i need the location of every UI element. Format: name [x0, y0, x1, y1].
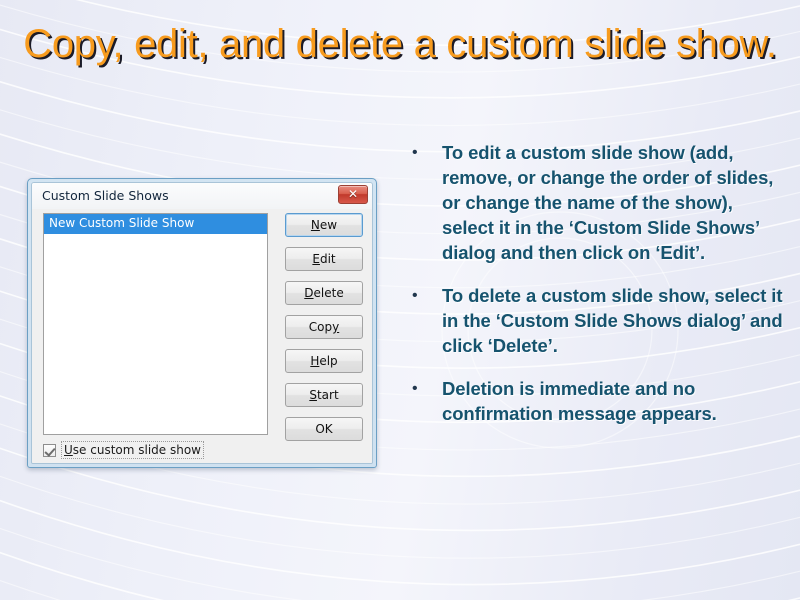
- delete-button[interactable]: Delete: [285, 281, 363, 305]
- custom-slide-shows-dialog: Custom Slide Shows ✕ New Custom Slide Sh…: [27, 178, 377, 468]
- copy-button[interactable]: Copy: [285, 315, 363, 339]
- slide-body: • To edit a custom slide show (add, remo…: [408, 140, 784, 426]
- bullet-item: • To delete a custom slide show, select …: [408, 283, 784, 358]
- bullet-item: • To edit a custom slide show (add, remo…: [408, 140, 784, 265]
- bullet-text: Deletion is immediate and no confirmatio…: [442, 376, 784, 426]
- bullet-dot-icon: •: [408, 283, 442, 309]
- list-item[interactable]: New Custom Slide Show: [44, 214, 267, 234]
- use-custom-slide-show-row[interactable]: Use custom slide show: [43, 441, 204, 459]
- use-custom-slide-show-checkbox[interactable]: [43, 444, 56, 457]
- bullet-text: To delete a custom slide show, select it…: [442, 283, 784, 358]
- bullet-item: • Deletion is immediate and no confirmat…: [408, 376, 784, 426]
- new-button[interactable]: New: [285, 213, 363, 237]
- dialog-button-column: New Edit Delete Copy Help Start OK: [285, 213, 363, 441]
- dialog-body: New Custom Slide Show Use custom slide s…: [32, 209, 372, 463]
- close-glyph: ✕: [339, 186, 367, 203]
- close-icon[interactable]: ✕: [338, 185, 368, 204]
- custom-shows-listbox[interactable]: New Custom Slide Show: [43, 213, 268, 435]
- slide-canvas: Copy, edit, and delete a custom slide sh…: [0, 0, 800, 600]
- start-button[interactable]: Start: [285, 383, 363, 407]
- dialog-titlebar: Custom Slide Shows ✕: [32, 183, 372, 209]
- dialog-inner-frame: Custom Slide Shows ✕ New Custom Slide Sh…: [31, 182, 373, 464]
- use-custom-slide-show-label[interactable]: Use custom slide show: [61, 441, 204, 459]
- edit-button[interactable]: Edit: [285, 247, 363, 271]
- bullet-text: To edit a custom slide show (add, remove…: [442, 140, 784, 265]
- dialog-title-text: Custom Slide Shows: [42, 188, 169, 203]
- slide-title: Copy, edit, and delete a custom slide sh…: [20, 20, 780, 68]
- bullet-dot-icon: •: [408, 140, 442, 166]
- help-button[interactable]: Help: [285, 349, 363, 373]
- bullet-dot-icon: •: [408, 376, 442, 402]
- ok-button[interactable]: OK: [285, 417, 363, 441]
